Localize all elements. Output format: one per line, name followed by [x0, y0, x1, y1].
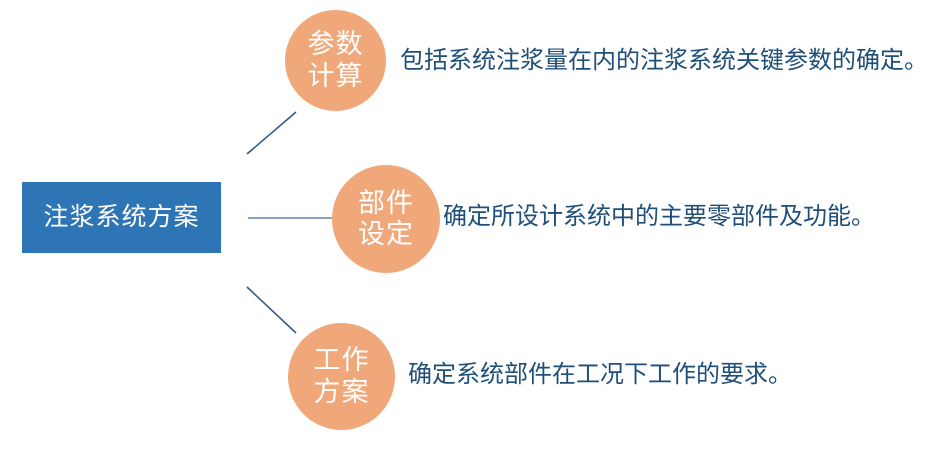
root-node-label: 注浆系统方案 [43, 205, 199, 230]
branch-circle-label: 部件 设定 [358, 188, 414, 251]
connector-line-to-branch-3 [247, 287, 296, 333]
branch-circle-label: 参数 计算 [308, 29, 364, 92]
branch-circle-work-plan[interactable]: 工作 方案 [288, 323, 395, 430]
branch-description-parameter-calculation: 包括系统注浆量在内的注浆系统关键参数的确定。 [400, 47, 928, 76]
connector-line-to-branch-1 [247, 112, 296, 154]
branch-description-work-plan: 确定系统部件在工况下工作的要求。 [408, 361, 792, 390]
root-node[interactable]: 注浆系统方案 [22, 182, 221, 253]
diagram-canvas: 注浆系统方案 参数 计算 包括系统注浆量在内的注浆系统关键参数的确定。 部件 设… [0, 0, 948, 456]
branch-description-component-setting: 确定所设计系统中的主要零部件及功能。 [443, 203, 875, 232]
branch-circle-label: 工作 方案 [314, 345, 370, 408]
branch-circle-parameter-calculation[interactable]: 参数 计算 [285, 10, 386, 111]
branch-circle-component-setting[interactable]: 部件 设定 [332, 165, 440, 273]
